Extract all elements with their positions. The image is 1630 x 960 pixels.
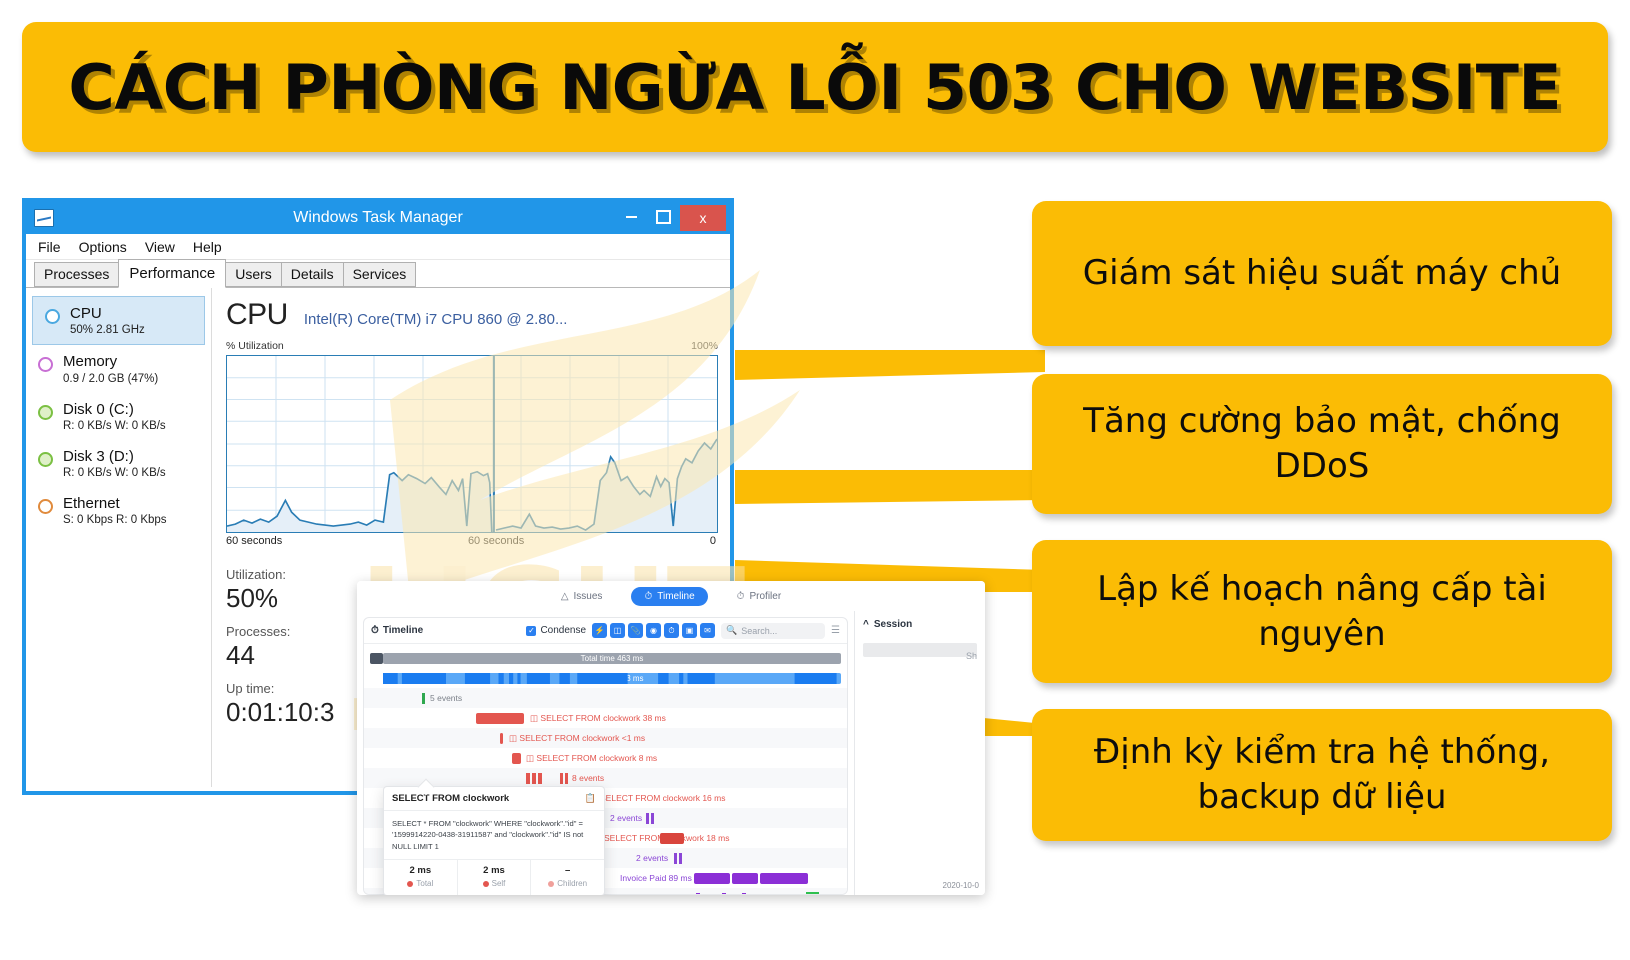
sidebar-item-disk3[interactable]: Disk 3 (D:) R: 0 KB/s W: 0 KB/s [26, 440, 211, 487]
stat-label-utilization: Utilization: [226, 567, 718, 582]
timeline-row-controller[interactable]: Controller 453 ms [364, 668, 847, 688]
event-marker-purple [646, 813, 649, 824]
sql-bar-8ms[interactable] [512, 753, 521, 764]
resource-sidebar[interactable]: CPU 50% 2.81 GHz Memory 0.9 / 2.0 GB (47… [26, 288, 212, 787]
event-marker-purple [674, 853, 677, 864]
callout-text-4: Định kỳ kiểm tra hệ thống, backup dữ liệ… [1050, 730, 1594, 820]
menu-options[interactable]: Options [79, 239, 127, 255]
metric-total-label: Total [384, 879, 457, 888]
clock-icon: ⏱ [737, 591, 745, 602]
lightning-icon[interactable]: ⚡ [592, 623, 607, 638]
sql-lt1ms-text: SELECT FROM clockwork <1 ms [519, 733, 645, 743]
profiler-tabbar[interactable]: △ Issues ⏱ Timeline ⏱ Profiler [357, 581, 985, 611]
cpu-heading-row: CPU Intel(R) Core(TM) i7 CPU 860 @ 2.80.… [226, 298, 718, 332]
invoice-bar-seg1[interactable] [694, 873, 730, 884]
tooltip-header: SELECT FROM clockwork 📋 [384, 787, 604, 811]
share-label[interactable]: Sh [966, 651, 977, 661]
event-marker-red [532, 773, 536, 784]
clock-icon: ⏱ [644, 591, 652, 602]
task-manager-titlebar[interactable]: Windows Task Manager x [26, 202, 730, 234]
db-icon: ◫ [509, 733, 517, 743]
sql-8ms-text: SELECT FROM clockwork 8 ms [536, 753, 657, 763]
clock-icon[interactable]: ⏱ [664, 623, 679, 638]
maximize-icon[interactable] [648, 205, 678, 229]
page-banner: CÁCH PHÒNG NGỪA LỖI 503 CHO WEBSITE [22, 22, 1608, 152]
invoice-bar-seg3[interactable] [760, 873, 808, 884]
tab-profiler-label: Profiler [749, 591, 781, 602]
events-2a-label: 2 events [610, 813, 642, 823]
cpu-axis-max: 100% [691, 340, 718, 352]
minimize-icon[interactable] [616, 205, 646, 229]
search-placeholder: Search... [741, 626, 777, 636]
sql-bar-lt1ms[interactable] [500, 733, 503, 744]
legend-dot-icon [483, 881, 489, 887]
tooltip-title: SELECT FROM clockwork [392, 793, 509, 804]
checkbox-checked-icon[interactable]: ✓ [526, 626, 536, 636]
total-time-bar[interactable]: Total time 463 ms [383, 653, 841, 664]
sidebar-label-memory: Memory [63, 353, 158, 370]
disk3-status-dot [38, 452, 53, 467]
connector-wedge-1 [735, 350, 1045, 380]
callout-text-1: Giám sát hiệu suất máy chủ [1083, 251, 1561, 296]
tooltip-metrics: 2 ms Total 2 ms Self [384, 860, 604, 895]
cpu-utilization-graph [226, 355, 718, 533]
cpu-heading: CPU [226, 298, 288, 332]
events-5-label: 5 events [430, 693, 462, 703]
timeline-title-label: Timeline [383, 625, 423, 636]
sidebar-sub-cpu: 50% 2.81 GHz [70, 324, 145, 336]
sidebar-sub-memory: 0.9 / 2.0 GB (47%) [63, 373, 158, 385]
event-marker-green [422, 693, 425, 704]
image-icon[interactable]: ▣ [682, 623, 697, 638]
invoice-bar-seg2[interactable] [732, 873, 758, 884]
db-icon: ◫ [530, 713, 538, 723]
menu-view[interactable]: View [145, 239, 175, 255]
sidebar-sub-ethernet: S: 0 Kbps R: 0 Kbps [63, 514, 167, 526]
sql-38ms-text: SELECT FROM clockwork 38 ms [540, 713, 665, 723]
timeline-title: ⏱ Timeline [371, 625, 423, 636]
sql-8ms-label: ◫ SELECT FROM clockwork 8 ms [526, 753, 657, 764]
sidebar-item-memory[interactable]: Memory 0.9 / 2.0 GB (47%) [26, 345, 211, 392]
cpu-graph-fill-right [496, 439, 717, 532]
sidebar-label-cpu: CPU [70, 305, 145, 322]
task-manager-tabs[interactable]: Processes Performance Users Details Serv… [26, 260, 730, 288]
metric-total: 2 ms Total [384, 860, 458, 895]
hamburger-icon[interactable]: ☰ [831, 625, 840, 636]
tab-users[interactable]: Users [225, 262, 282, 287]
cpu-time-mid: 60 seconds [468, 535, 524, 547]
event-marker-red [538, 773, 542, 784]
event-marker-red [560, 773, 563, 784]
cpu-graph-axis-labels: % Utilization 100% [226, 340, 718, 352]
sidebar-label-ethernet: Ethernet [63, 495, 167, 512]
legend-dot-icon [407, 881, 413, 887]
search-input[interactable]: 🔍 Search... [721, 623, 825, 639]
tab-profiler[interactable]: ⏱ Profiler [724, 587, 795, 606]
metric-children: – Children [531, 860, 604, 895]
metric-children-label: Children [531, 879, 604, 888]
profiler-content: ⏱ Timeline ✓ Condense ⚡ ◫ 📎 ◉ ⏱ ▣ ✉ [357, 611, 985, 895]
timeline-pane: ⏱ Timeline ✓ Condense ⚡ ◫ 📎 ◉ ⏱ ▣ ✉ [357, 611, 854, 895]
page-title: CÁCH PHÒNG NGỪA LỖI 503 CHO WEBSITE [69, 51, 1562, 124]
timeline-row-sql-38ms[interactable]: ◫ SELECT FROM clockwork 38 ms [364, 708, 847, 728]
ethernet-status-dot [38, 499, 53, 514]
condense-label: Condense [540, 625, 586, 636]
cpu-axis-ylabel: % Utilization [226, 340, 284, 352]
warning-icon: △ [561, 591, 569, 602]
sidebar-item-disk0[interactable]: Disk 0 (C:) R: 0 KB/s W: 0 KB/s [26, 393, 211, 440]
metric-self-text: Self [492, 879, 506, 888]
tab-services[interactable]: Services [343, 262, 417, 287]
paperclip-icon[interactable]: 📎 [628, 623, 643, 638]
copy-icon[interactable]: 📋 [585, 793, 596, 804]
menu-file[interactable]: File [38, 239, 61, 255]
mail-icon[interactable]: ✉ [700, 623, 715, 638]
sql-bar-38ms[interactable] [476, 713, 524, 724]
callout-text-3: Lập kế hoạch nâng cấp tài nguyên [1050, 567, 1594, 657]
cookie-icon[interactable]: ◉ [646, 623, 661, 638]
metric-self-value: 2 ms [458, 865, 531, 876]
metric-self: 2 ms Self [458, 860, 532, 895]
sql-bar-18ms[interactable] [660, 833, 684, 844]
disk0-status-dot [38, 405, 53, 420]
sidebar-label-disk0: Disk 0 (C:) [63, 401, 166, 418]
invoice-paid-label: Invoice Paid 89 ms [620, 873, 692, 883]
tab-timeline[interactable]: ⏱ Timeline [631, 587, 707, 606]
sidebar-label-disk3: Disk 3 (D:) [63, 448, 166, 465]
sidebar-item-cpu[interactable]: CPU 50% 2.81 GHz [32, 296, 205, 345]
tab-issues[interactable]: △ Issues [548, 587, 616, 606]
memory-status-dot [38, 357, 53, 372]
tab-timeline-label: Timeline [657, 591, 694, 602]
tab-details[interactable]: Details [281, 262, 344, 287]
event-marker-purple [651, 813, 654, 824]
cpu-status-dot [45, 309, 60, 324]
clock-icon: ⏱ [371, 625, 379, 636]
event-marker-red [565, 773, 568, 784]
close-icon[interactable]: x [680, 205, 726, 231]
timeline-row-sql-8ms[interactable]: ◫ SELECT FROM clockwork 8 ms [364, 748, 847, 768]
metric-children-value: – [531, 865, 604, 876]
db-icon: ◫ [526, 753, 534, 763]
timeline-row-total[interactable]: Total time 463 ms [364, 648, 847, 668]
total-time-head-bar [370, 653, 383, 664]
session-timestamp: 2020-10-0 [943, 881, 979, 890]
tab-issues-label: Issues [574, 591, 603, 602]
session-placeholder-row [863, 643, 977, 657]
session-header[interactable]: ^ Session [855, 611, 985, 637]
callout-box-1: Giám sát hiệu suất máy chủ [1032, 201, 1612, 346]
tab-processes[interactable]: Processes [34, 262, 119, 287]
metric-total-value: 2 ms [384, 865, 457, 876]
callout-box-3: Lập kế hoạch nâng cấp tài nguyên [1032, 540, 1612, 683]
condense-checkbox[interactable]: ✓ Condense [526, 625, 586, 636]
event-marker-purple [679, 853, 682, 864]
controller-bar-segments [383, 673, 848, 684]
cpu-graph-time-axis: 60 seconds 60 seconds 0 [226, 535, 718, 547]
metric-self-label: Self [458, 879, 531, 888]
event-marker-green [806, 892, 819, 895]
window-controls[interactable]: x [614, 205, 726, 231]
total-time-label: Total time 463 ms [581, 654, 644, 663]
event-marker-red [526, 773, 530, 784]
callout-box-4: Định kỳ kiểm tra hệ thống, backup dữ liệ… [1032, 709, 1612, 841]
timeline-row-sql-lt1ms[interactable]: ◫ SELECT FROM clockwork <1 ms [364, 728, 847, 748]
task-manager-menubar[interactable]: File Options View Help [26, 234, 730, 260]
clockwork-profiler-window[interactable]: △ Issues ⏱ Timeline ⏱ Profiler ⏱ Timelin… [357, 581, 985, 895]
session-title: Session [874, 619, 912, 630]
legend-dot-icon [548, 881, 554, 887]
sql-lt1ms-label: ◫ SELECT FROM clockwork <1 ms [509, 733, 645, 744]
search-icon: 🔍 [726, 625, 737, 636]
timeline-card: ⏱ Timeline ✓ Condense ⚡ ◫ 📎 ◉ ⏱ ▣ ✉ [363, 617, 848, 895]
metric-children-text: Children [557, 879, 587, 888]
event-marker-purple [722, 893, 726, 896]
tab-performance[interactable]: Performance [118, 259, 226, 288]
event-marker-purple [742, 893, 746, 896]
chevron-up-icon[interactable]: ^ [863, 619, 869, 630]
sidebar-item-ethernet[interactable]: Ethernet S: 0 Kbps R: 0 Kbps [26, 487, 211, 534]
timeline-toolbar[interactable]: ⏱ Timeline ✓ Condense ⚡ ◫ 📎 ◉ ⏱ ▣ ✉ [364, 618, 847, 644]
tooltip-sql-text: SELECT * FROM "clockwork" WHERE "clockwo… [384, 811, 604, 860]
timeline-row-events-5[interactable]: 5 events [364, 688, 847, 708]
database-icon[interactable]: ◫ [610, 623, 625, 638]
callout-text-2: Tăng cường bảo mật, chống DDoS [1050, 399, 1594, 489]
session-pane: ^ Session Sh 2020-10-0 [854, 611, 985, 895]
sidebar-sub-disk3: R: 0 KB/s W: 0 KB/s [63, 467, 166, 479]
cpu-time-left: 60 seconds [226, 535, 282, 547]
event-marker-purple [696, 893, 700, 896]
connector-wedge-2 [735, 470, 1045, 504]
events-2b-label: 2 events [636, 853, 668, 863]
cpu-model-label: Intel(R) Core(TM) i7 CPU 860 @ 2.80... [304, 311, 568, 328]
sidebar-sub-disk0: R: 0 KB/s W: 0 KB/s [63, 420, 166, 432]
sql-16ms-label: SELECT FROM clockwork 16 ms [600, 793, 725, 803]
callout-box-2: Tăng cường bảo mật, chống DDoS [1032, 374, 1612, 514]
cpu-time-right: 0 [710, 535, 716, 547]
sql-detail-tooltip[interactable]: SELECT FROM clockwork 📋 SELECT * FROM "c… [383, 786, 605, 895]
timeline-filter-icons[interactable]: ⚡ ◫ 📎 ◉ ⏱ ▣ ✉ [592, 623, 715, 638]
sql-38ms-label: ◫ SELECT FROM clockwork 38 ms [530, 713, 666, 724]
timeline-row-events-8[interactable]: 8 events [364, 768, 847, 788]
metric-total-text: Total [416, 879, 433, 888]
cpu-graph-svg [227, 356, 717, 532]
menu-help[interactable]: Help [193, 239, 222, 255]
events-8-label: 8 events [572, 773, 604, 783]
